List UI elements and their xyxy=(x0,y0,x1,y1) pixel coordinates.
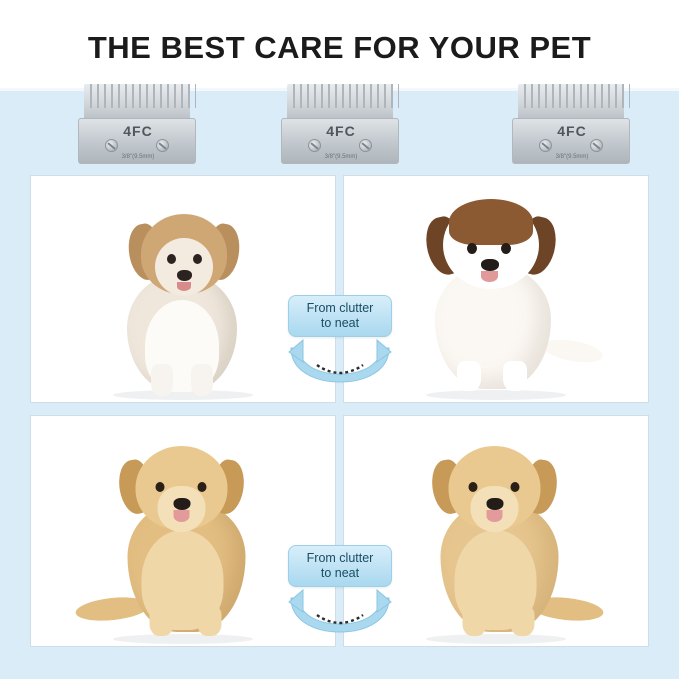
dog-front-leg-right xyxy=(191,364,213,396)
blade-screw-left-icon xyxy=(105,139,118,152)
blade-teeth xyxy=(287,84,393,120)
blade-body: 4FC 3/8"(9.5mm) xyxy=(78,118,196,164)
dog-tail xyxy=(542,336,605,366)
dog-front-leg-left xyxy=(457,361,481,391)
clipper-blade-icon: 4FC 3/8"(9.5mm) xyxy=(512,84,630,172)
blade-teeth-cuts xyxy=(90,84,196,108)
dog-eye-left xyxy=(469,482,478,492)
dog-front-leg-right xyxy=(198,606,222,636)
dog-front-leg-right xyxy=(511,606,535,636)
blade-teeth-cuts xyxy=(524,84,630,108)
blade-body: 4FC 3/8"(9.5mm) xyxy=(281,118,399,164)
callout-from-clutter-to-neat-top: From clutter to neat xyxy=(288,295,392,337)
blade-row: 4FC 3/8"(9.5mm) 4FC 3/8"(9.5mm) 4FC xyxy=(0,82,679,174)
blade-screw-right-icon xyxy=(359,139,372,152)
dog-head-markings xyxy=(449,199,533,245)
callout-line-1: From clutter xyxy=(289,301,391,316)
blade-label: 4FC xyxy=(513,123,631,139)
dog-illustration-shaggy-doodle xyxy=(93,196,273,396)
callout-from-clutter-to-neat-bottom: From clutter to neat xyxy=(288,545,392,587)
callout-line-1: From clutter xyxy=(289,551,391,566)
blade-label: 4FC xyxy=(282,123,400,139)
dog-front-leg-left xyxy=(150,606,174,636)
blade-body: 4FC 3/8"(9.5mm) xyxy=(512,118,630,164)
dog-eye-left xyxy=(167,254,176,264)
blade-teeth-cuts xyxy=(293,84,399,108)
dog-mouth xyxy=(177,282,191,291)
clipper-blade-icon: 4FC 3/8"(9.5mm) xyxy=(281,84,399,172)
blade-screw-left-icon xyxy=(539,139,552,152)
clipper-blade-icon: 4FC 3/8"(9.5mm) xyxy=(78,84,196,172)
dog-eye-right xyxy=(511,482,520,492)
callout-line-2: to neat xyxy=(289,566,391,581)
dog-front-leg-left xyxy=(151,364,173,396)
blade-size-label: 3/8"(9.5mm) xyxy=(282,154,400,160)
dog-front-leg-left xyxy=(463,606,487,636)
curved-arrow-icon xyxy=(287,338,393,386)
dog-nose xyxy=(481,259,499,271)
dog-illustration-groomed-retriever xyxy=(389,430,604,640)
blade-teeth xyxy=(518,84,624,120)
blade-screw-left-icon xyxy=(308,139,321,152)
dog-illustration-shaggy-retriever xyxy=(76,430,291,640)
dog-eye-right xyxy=(193,254,202,264)
blade-label: 4FC xyxy=(79,123,197,139)
dog-mouth xyxy=(487,510,503,522)
dog-eye-left xyxy=(156,482,165,492)
dog-illustration-groomed-havanese xyxy=(391,191,601,396)
callout-line-2: to neat xyxy=(289,316,391,331)
dog-front-leg-right xyxy=(503,361,527,391)
dog-nose xyxy=(487,498,504,510)
dog-mouth xyxy=(174,510,190,522)
dog-eye-right xyxy=(501,243,511,254)
dog-nose xyxy=(174,498,191,510)
page-title: THE BEST CARE FOR YOUR PET xyxy=(0,30,679,66)
blade-screw-right-icon xyxy=(156,139,169,152)
dog-eye-right xyxy=(198,482,207,492)
product-infographic: THE BEST CARE FOR YOUR PET 4FC 3/8"(9.5m… xyxy=(0,0,679,679)
dog-mouth xyxy=(481,271,498,282)
curved-arrow-icon xyxy=(287,588,393,636)
blade-screw-right-icon xyxy=(590,139,603,152)
blade-size-label: 3/8"(9.5mm) xyxy=(79,154,197,160)
dog-nose xyxy=(177,270,192,281)
dog-eye-left xyxy=(467,243,477,254)
blade-size-label: 3/8"(9.5mm) xyxy=(513,154,631,160)
blade-teeth xyxy=(84,84,190,120)
